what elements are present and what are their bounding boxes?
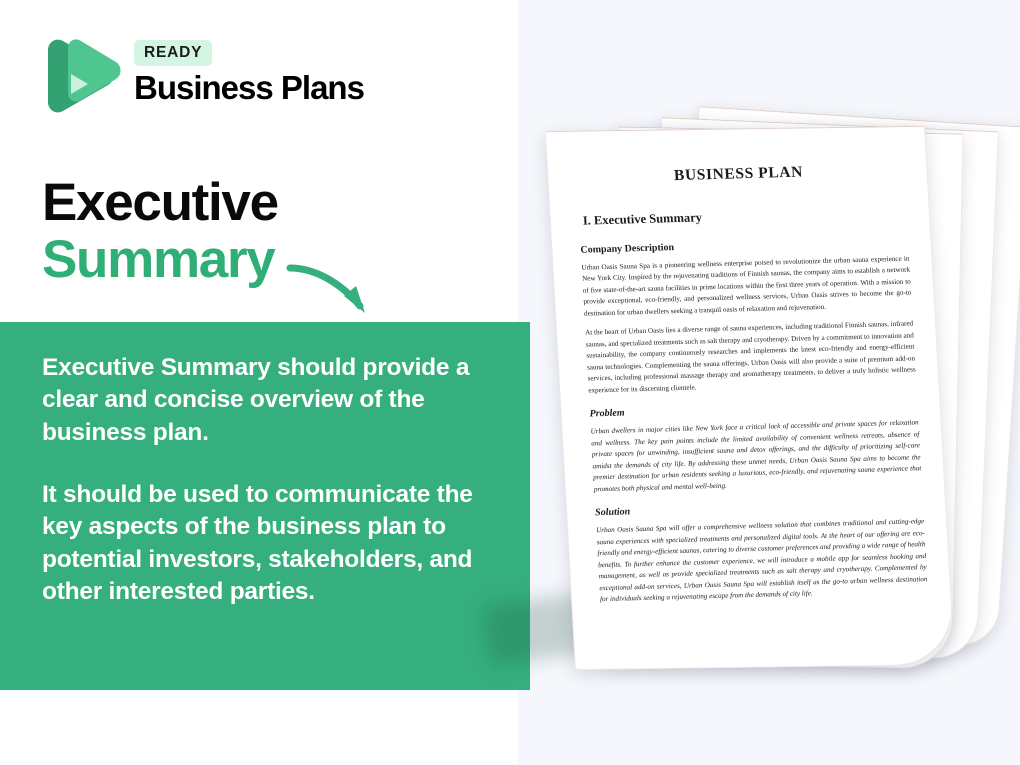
curved-arrow-down-right-icon [286,256,386,326]
brand-logo-text: READY Business Plans [134,40,364,106]
document-title: BUSINESS PLAN [572,161,905,188]
document-paragraph: Urban Oasis Sauna Spa is a pioneering we… [577,254,912,321]
document-subheading-solution: Solution [591,498,924,518]
ready-badge: READY [134,40,212,66]
page-title: Executive Summary [42,176,278,286]
summary-paragraph-2: It should be used to communicate the key… [42,479,494,608]
document-paragraph: At the heart of Urban Oasis lies a diver… [581,319,917,397]
summary-paragraph-1: Executive Summary should provide a clear… [42,352,494,449]
summary-description: Executive Summary should provide a clear… [42,352,494,608]
document-paragraph: Urban Oasis Sauna Spa will offer a compr… [592,516,928,606]
brand-name: Business Plans [134,71,364,106]
document-content: BUSINESS PLAN I. Executive Summary Compa… [546,126,951,625]
brand-logo[interactable]: READY Business Plans [38,36,378,122]
document-paragraph: Urban dwellers in major cities like New … [586,418,922,496]
document-subheading-problem: Problem [585,400,918,420]
slide-canvas: READY Business Plans Executive Summary E… [0,0,1020,765]
double-play-triangle-logo-icon [38,36,122,120]
document-stack[interactable]: BUSINESS PLAN I. Executive Summary Compa… [500,80,1020,700]
page-title-line-1: Executive [42,176,278,229]
document-section-heading: I. Executive Summary [574,205,907,229]
document-page-front[interactable]: BUSINESS PLAN I. Executive Summary Compa… [545,126,955,670]
document-subheading-company-description: Company Description [576,236,909,256]
page-title-line-2: Summary [42,233,278,286]
